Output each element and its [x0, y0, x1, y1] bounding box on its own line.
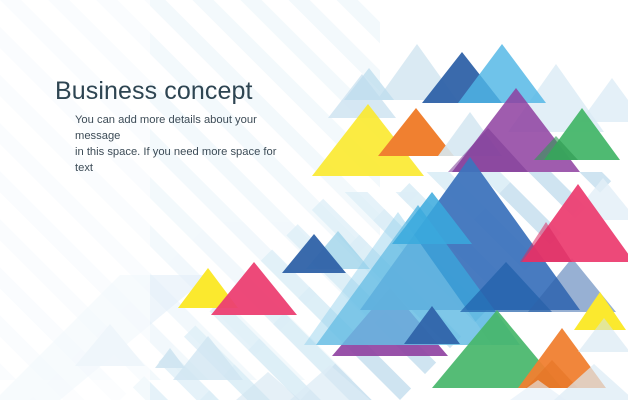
- subcopy-line-1: You can add more details about your mess…: [75, 112, 290, 144]
- subcopy-text: You can add more details about your mess…: [55, 112, 290, 177]
- headline-text-block: Business concept You can add more detail…: [55, 78, 315, 176]
- slide-canvas: Business concept You can add more detail…: [0, 0, 628, 400]
- left-fade-overlay: [0, 0, 150, 400]
- page-title: Business concept: [55, 78, 315, 106]
- subcopy-line-2: in this space. If you need more space fo…: [75, 144, 290, 176]
- abstract-triangles-artwork: [0, 0, 628, 400]
